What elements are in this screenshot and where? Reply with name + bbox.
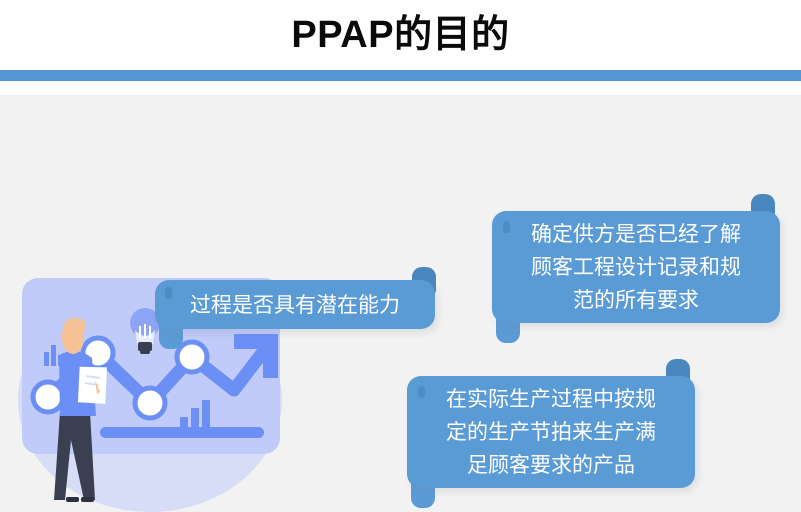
header-divider-rule [0, 70, 801, 81]
slide-header: PPAP的目的 [0, 0, 801, 70]
bubble-capability-notch-icon [165, 287, 172, 299]
speech-bubble-requirements[interactable]: 确定供方是否已经了解 顾客工程设计记录和规 范的所有要求 [492, 211, 780, 323]
slide-root: PPAP的目的 [0, 0, 801, 512]
trend-node [135, 388, 165, 418]
speech-bubble-takt-text: 在实际生产过程中按规 定的生产节拍来生产满 足顾客要求的产品 [419, 383, 683, 482]
speech-bubble-takt[interactable]: 在实际生产过程中按规 定的生产节拍来生产满 足顾客要求的产品 [407, 376, 695, 488]
bubble-requirements-notch-icon [503, 221, 510, 233]
slide-body: 确定供方是否已经了解 顾客工程设计记录和规 范的所有要求 过程是否具有潜在能力 … [0, 95, 801, 512]
speech-bubble-capability[interactable]: 过程是否具有潜在能力 [155, 280, 435, 329]
header-gap [0, 81, 801, 95]
page-title: PPAP的目的 [0, 0, 801, 70]
bubble-takt-notch-icon [418, 386, 425, 398]
trend-node [177, 342, 207, 372]
progress-bar [100, 427, 264, 438]
speech-bubble-capability-text: 过程是否具有潜在能力 [165, 290, 425, 320]
trend-node [33, 382, 63, 412]
speech-bubble-requirements-text: 确定供方是否已经了解 顾客工程设计记录和规 范的所有要求 [504, 218, 768, 317]
